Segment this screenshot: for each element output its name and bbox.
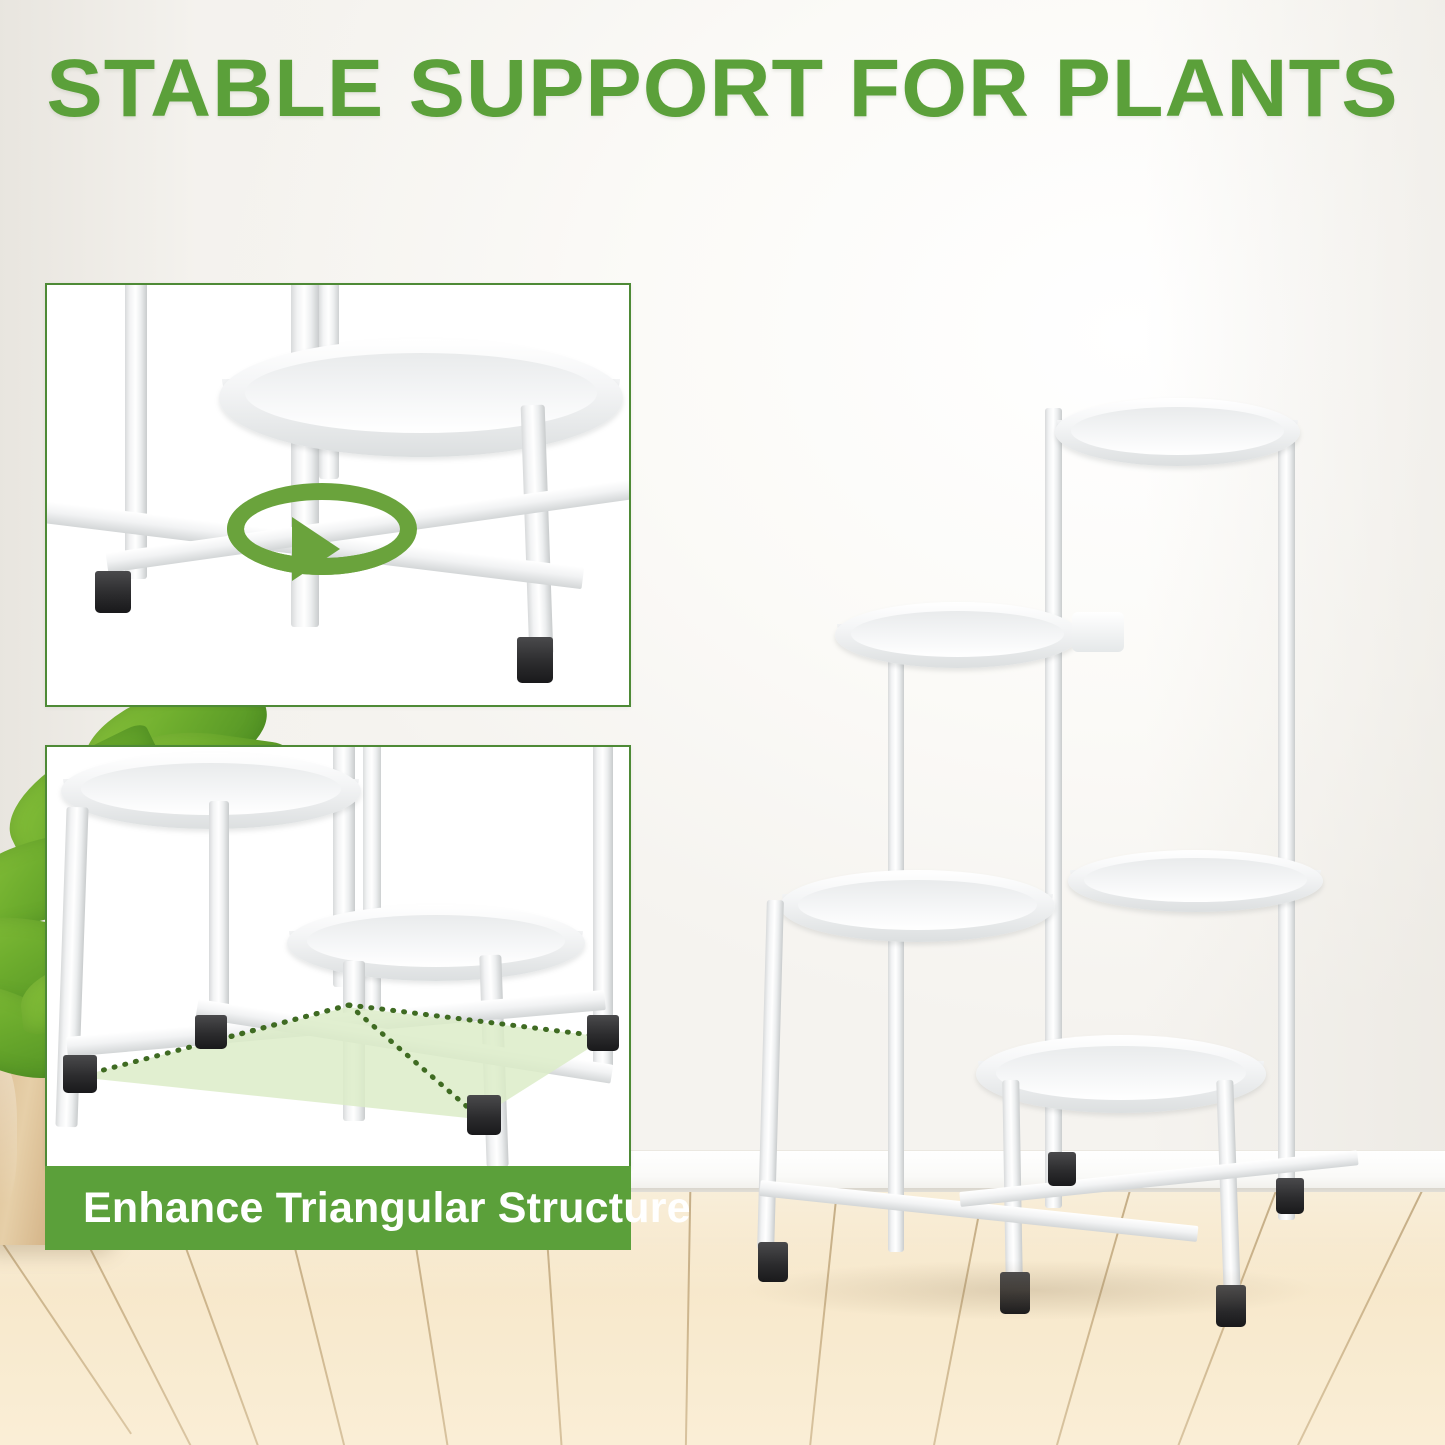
triangular-structure-label-bar: Enhance Triangular Structure bbox=[45, 1166, 631, 1250]
plant-stand-product-photo bbox=[700, 380, 1445, 1280]
closeup2-rubber-foot bbox=[587, 1015, 619, 1051]
product-floor-shadow bbox=[740, 1260, 1320, 1320]
tray-tier-2 bbox=[1068, 850, 1323, 912]
tray-inner-surface bbox=[996, 1046, 1246, 1100]
tray-tier-3 bbox=[835, 602, 1080, 668]
closeup-tray bbox=[219, 339, 623, 457]
closeup-rubber-foot bbox=[95, 571, 131, 613]
closeup-rubber-foot bbox=[517, 637, 553, 683]
page-title: STABLE SUPPORT FOR PLANTS bbox=[0, 42, 1445, 136]
product-marketing-image: Enhance Triangular Structure STABLE SUPP… bbox=[0, 0, 1445, 1445]
frame-post-tall-right bbox=[1278, 440, 1295, 1220]
closeup2-rubber-foot bbox=[467, 1095, 501, 1135]
frame-post-tier3 bbox=[888, 652, 904, 1252]
closeup2-rubber-foot bbox=[195, 1015, 227, 1049]
inset-panel-triangular-structure bbox=[45, 745, 631, 1169]
tray-tier-1-left bbox=[780, 870, 1055, 942]
tray-inner-surface bbox=[798, 880, 1037, 930]
rubber-foot bbox=[1048, 1152, 1076, 1186]
inset-panel-rotation bbox=[45, 283, 631, 707]
tray-inner-surface bbox=[851, 611, 1064, 657]
triangle-dotted-lines bbox=[47, 747, 629, 1167]
tier3-hub-disc bbox=[1072, 612, 1124, 652]
tray-tier-4 bbox=[1055, 398, 1300, 466]
tray-inner-surface bbox=[1071, 407, 1284, 455]
frame-leg-front-right bbox=[1002, 1080, 1022, 1280]
closeup2-rubber-foot bbox=[63, 1055, 97, 1093]
rubber-foot bbox=[1276, 1178, 1304, 1214]
tray-inner-surface bbox=[1084, 858, 1307, 902]
rotation-arrow-head-icon bbox=[292, 517, 340, 581]
label-bar-text: Enhance Triangular Structure bbox=[45, 1184, 691, 1233]
